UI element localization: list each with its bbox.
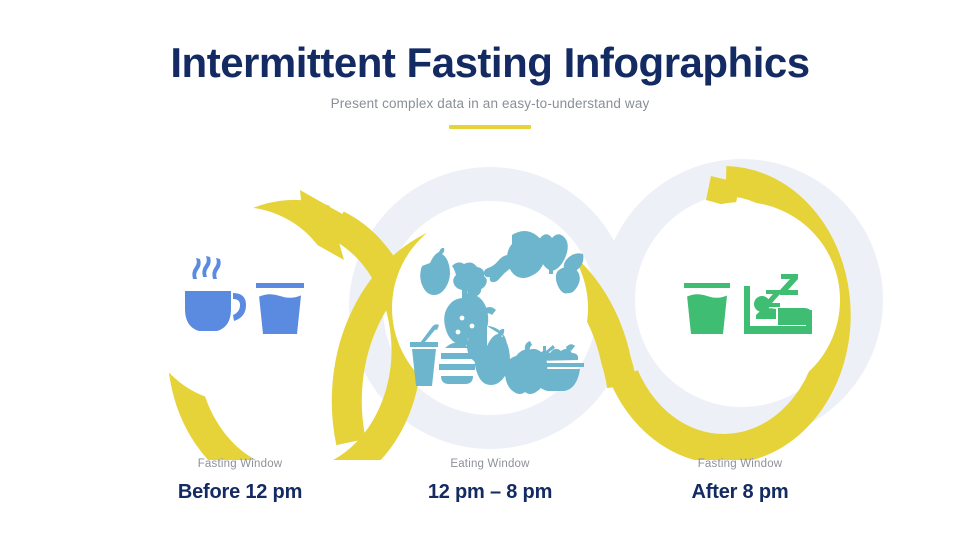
caption-value-2: 12 pm – 8 pm: [380, 472, 600, 504]
accent-bar-wrap: [0, 111, 980, 129]
water-glass-icon: [684, 283, 730, 334]
stage-captions: Fasting Window Before 12 pm Eating Windo…: [0, 458, 980, 528]
infinity-flow-diagram: [0, 150, 980, 460]
caption-stage-2: Eating Window 12 pm – 8 pm: [380, 458, 600, 528]
caption-value-1: Before 12 pm: [90, 472, 390, 504]
caption-value-3: After 8 pm: [590, 472, 890, 504]
page-title: Intermittent Fasting Infographics: [0, 0, 980, 85]
header: Intermittent Fasting Infographics Presen…: [0, 0, 980, 129]
slide-canvas: Intermittent Fasting Infographics Presen…: [0, 0, 980, 551]
water-glass-icon: [256, 283, 304, 334]
caption-kicker-3: Fasting Window: [590, 458, 890, 472]
caption-stage-1: Fasting Window Before 12 pm: [90, 458, 390, 528]
caption-kicker-1: Fasting Window: [90, 458, 390, 472]
disc-stage-3: [644, 202, 840, 398]
accent-bar: [449, 125, 531, 129]
page-subtitle: Present complex data in an easy-to-under…: [0, 85, 980, 111]
caption-stage-3: Fasting Window After 8 pm: [590, 458, 890, 528]
flow-svg: [0, 150, 980, 460]
caption-kicker-2: Eating Window: [380, 458, 600, 472]
